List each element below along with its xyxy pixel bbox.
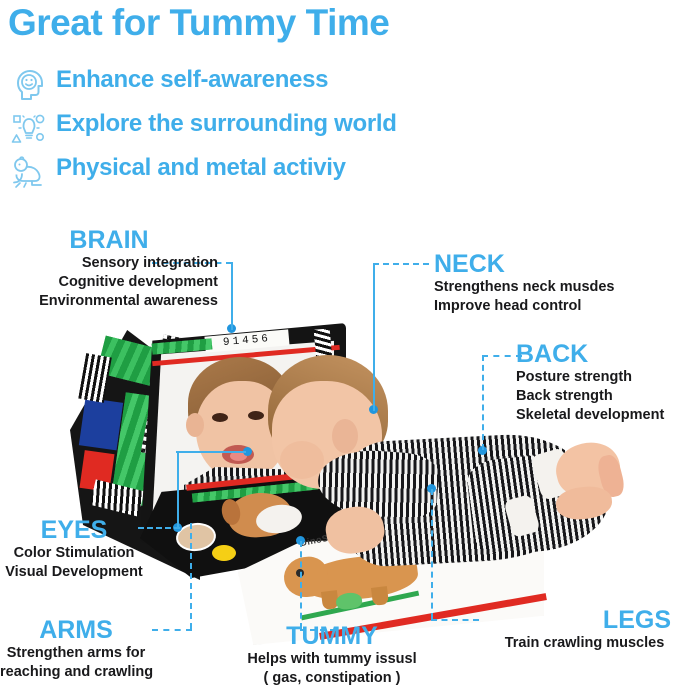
crawling-baby-icon [10,154,48,192]
infographic-page: Great for Tummy Time Enhance self-awaren… [0,0,679,699]
callout-eyes-line-1: Color Stimulation [0,544,148,563]
toy-blue-patch [79,398,123,451]
discovery-shapes-icon [10,110,48,148]
page-title: Great for Tummy Time [8,2,389,44]
callout-legs-line-1: Train crawling muscles [490,634,679,653]
connector-h-legs [431,619,479,621]
callout-tummy-line-2: ( gas, constipation ) [232,669,432,688]
callout-neck: NECK Strengthens neck musdes Improve hea… [434,252,679,316]
callout-arms-title: ARMS [0,618,152,644]
bullet-label-3: Physical and metal activiy [56,154,346,182]
callout-brain: BRAIN Sensory integration Cognitive deve… [0,228,218,311]
connector-h-eyes-inner [176,451,246,453]
baby-ear [332,419,358,453]
callout-neck-title: NECK [434,252,679,278]
header-section: Great for Tummy Time Enhance self-awaren… [0,0,679,205]
callout-neck-line-1: Strengthens neck musdes [434,278,679,297]
head-smiley-icon [10,66,48,104]
connector-h-neck [373,263,429,265]
connector-v-back [482,355,484,450]
connector-v-eyes [177,451,179,527]
callout-tummy-title: TUMMY [232,624,432,650]
callout-neck-line-2: Improve head control [434,297,679,316]
connector-v-tummy [300,541,302,629]
reflection-eye-left [212,413,228,422]
callout-back-line-2: Back strength [516,387,679,406]
callout-back: BACK Posture strength Back strength Skel… [516,342,679,425]
callout-brain-line-3: Environmental awareness [0,292,218,311]
reflection-ear [186,413,204,437]
callout-arms-line-1: Strengthen arms for [0,644,152,663]
connector-h-arms [152,629,192,631]
callout-brain-title: BRAIN [0,228,218,254]
callout-eyes: EYES Color Stimulation Visual Developmen… [0,518,148,582]
connector-v-brain [231,262,233,330]
reflection-eye-right [248,411,264,420]
baby-cheek [280,441,324,479]
callout-eyes-line-2: Visual Development [0,563,148,582]
callout-back-title: BACK [516,342,679,368]
callout-brain-line-2: Cognitive development [0,273,218,292]
callout-arms: ARMS Strengthen arms for reaching and cr… [0,618,152,682]
callout-legs-title: LEGS [490,608,679,634]
callout-eyes-title: EYES [0,518,148,544]
bullet-label-2: Explore the surrounding world [56,110,397,138]
callout-tummy: TUMMY Helps with tummy issusl ( gas, con… [232,624,432,688]
connector-v-legs [431,489,433,619]
callout-back-line-3: Skeletal development [516,406,679,425]
dinosaur-graphic-leg-2 [371,586,389,606]
callout-back-line-1: Posture strength [516,368,679,387]
callout-arms-line-2: reaching and crawling [0,663,152,682]
bullet-label-1: Enhance self-awareness [56,66,328,94]
connector-v-arms [190,523,192,629]
connector-v-neck [373,263,375,411]
callout-brain-line-1: Sensory integration [0,254,218,273]
callout-tummy-line-1: Helps with tummy issusl [232,650,432,669]
callout-legs: LEGS Train crawling muscles [490,608,679,653]
yellow-dot-graphic [212,545,236,561]
